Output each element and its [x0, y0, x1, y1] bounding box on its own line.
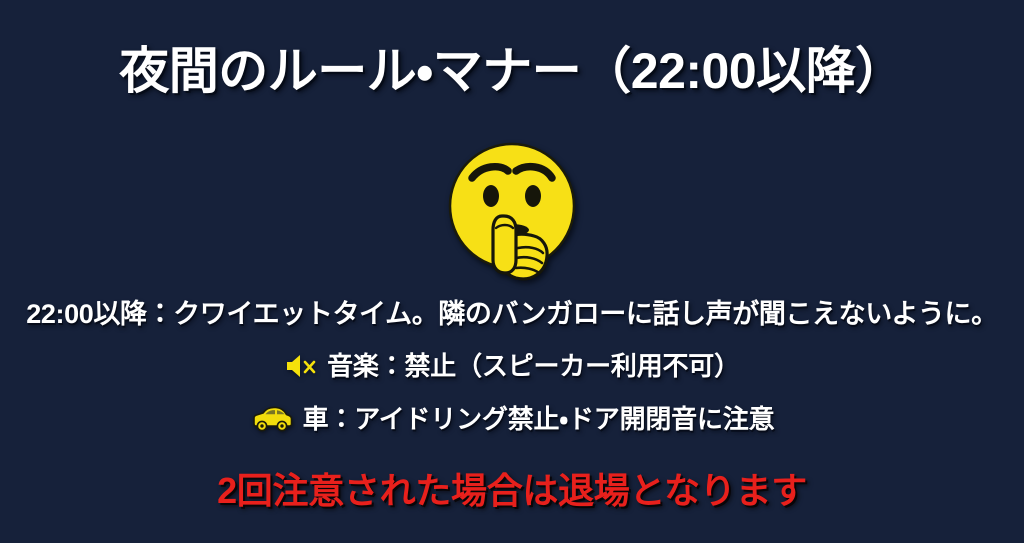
rules-list: 22:00以降：クワイエットタイム。隣のバンガローに話し声が聞こえないように。 … — [0, 296, 1024, 436]
rule-line-car: 車：アイドリング禁止・ドア開閉音に注意 — [0, 402, 1024, 436]
rule-line-music: 音楽：禁止（スピーカー利用不可） — [0, 349, 1024, 383]
page-title: 夜間のルール・マナー（22:00以降） — [0, 40, 1024, 102]
rule-text-car: 車：アイドリング禁止・ドア開閉音に注意 — [303, 402, 775, 436]
night-rules-slide: 夜間のルール・マナー（22:00以降） — [0, 0, 1024, 543]
rule-line-quiet-time: 22:00以降：クワイエットタイム。隣のバンガローに話し声が聞こえないように。 — [0, 296, 1024, 332]
muted-speaker-icon — [284, 351, 318, 381]
rule-text-music: 音楽：禁止（スピーカー利用不可） — [327, 349, 740, 383]
rule-text-quiet-time: 22:00以降：クワイエットタイム。隣のバンガローに話し声が聞こえないように。 — [26, 296, 997, 332]
shushing-face-emoji — [446, 138, 578, 284]
warning-message: 2回注意された場合は退場となります — [0, 468, 1024, 514]
hero-emoji-container — [0, 136, 1024, 286]
car-icon — [250, 404, 294, 434]
